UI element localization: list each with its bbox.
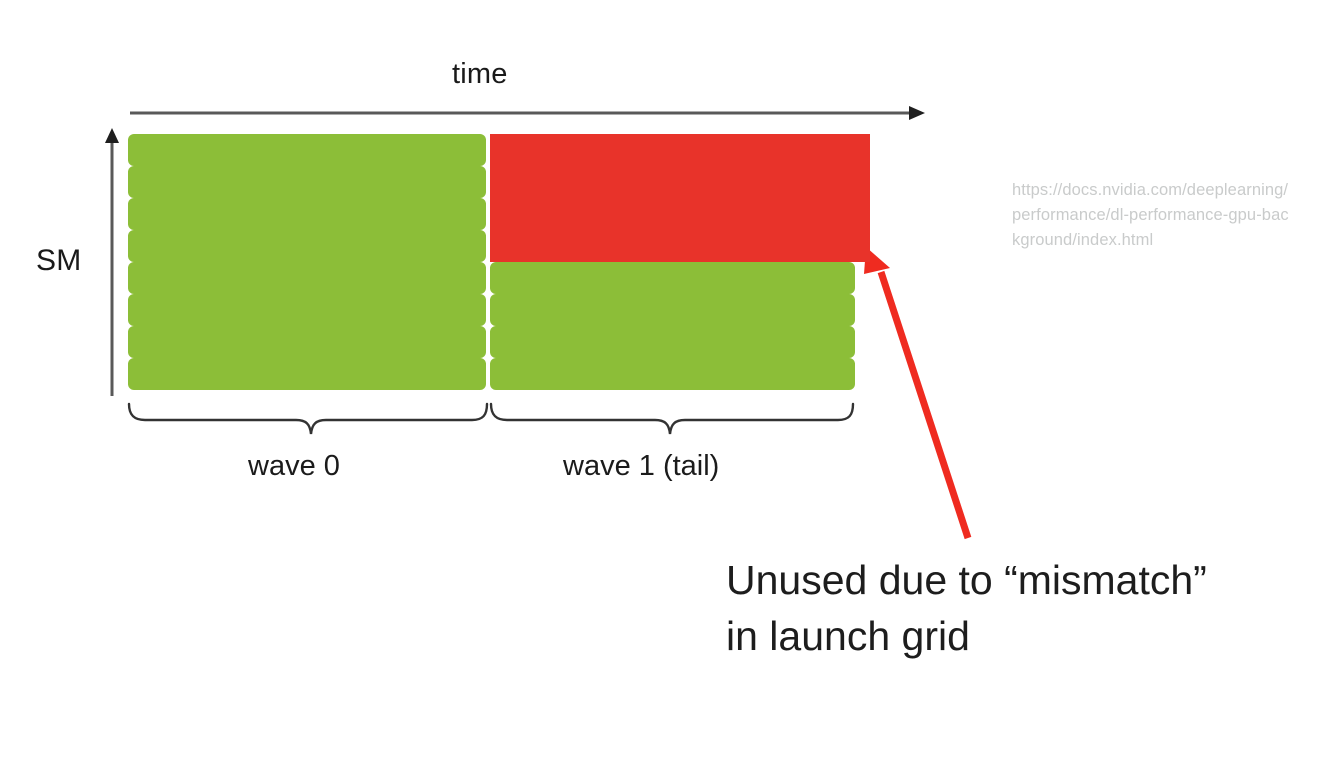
diagram-canvas: time SM xyxy=(0,0,1342,776)
sm-cell-wave1 xyxy=(490,262,855,294)
sm-axis-arrow-icon xyxy=(105,128,119,396)
wave-0-label: wave 0 xyxy=(248,452,340,481)
sm-cell-wave0 xyxy=(128,294,486,326)
sm-axis-label: SM xyxy=(36,246,82,276)
sm-cell-wave0 xyxy=(128,262,486,294)
sm-cell-wave1 xyxy=(490,294,855,326)
sm-cell-wave0 xyxy=(128,230,486,262)
sm-cell-wave0 xyxy=(128,134,486,166)
time-axis-arrow-icon xyxy=(130,106,925,120)
wave-1-label: wave 1 (tail) xyxy=(563,452,719,481)
sm-cell-wave0 xyxy=(128,358,486,390)
annotation-arrow-icon xyxy=(864,247,968,538)
wave-0-brace-icon xyxy=(129,404,487,434)
sm-cell-wave0 xyxy=(128,326,486,358)
unused-capacity-block xyxy=(490,134,870,262)
time-axis-label: time xyxy=(452,60,508,89)
sm-cell-wave0 xyxy=(128,198,486,230)
sm-cell-wave0 xyxy=(128,166,486,198)
annotation-caption: Unused due to “mismatch” in launch grid xyxy=(726,552,1246,664)
wave-1-brace-icon xyxy=(491,404,853,434)
source-url-text: https://docs.nvidia.com/deeplearning/per… xyxy=(1012,178,1294,253)
sm-cell-wave1 xyxy=(490,326,855,358)
sm-cell-wave1 xyxy=(490,358,855,390)
